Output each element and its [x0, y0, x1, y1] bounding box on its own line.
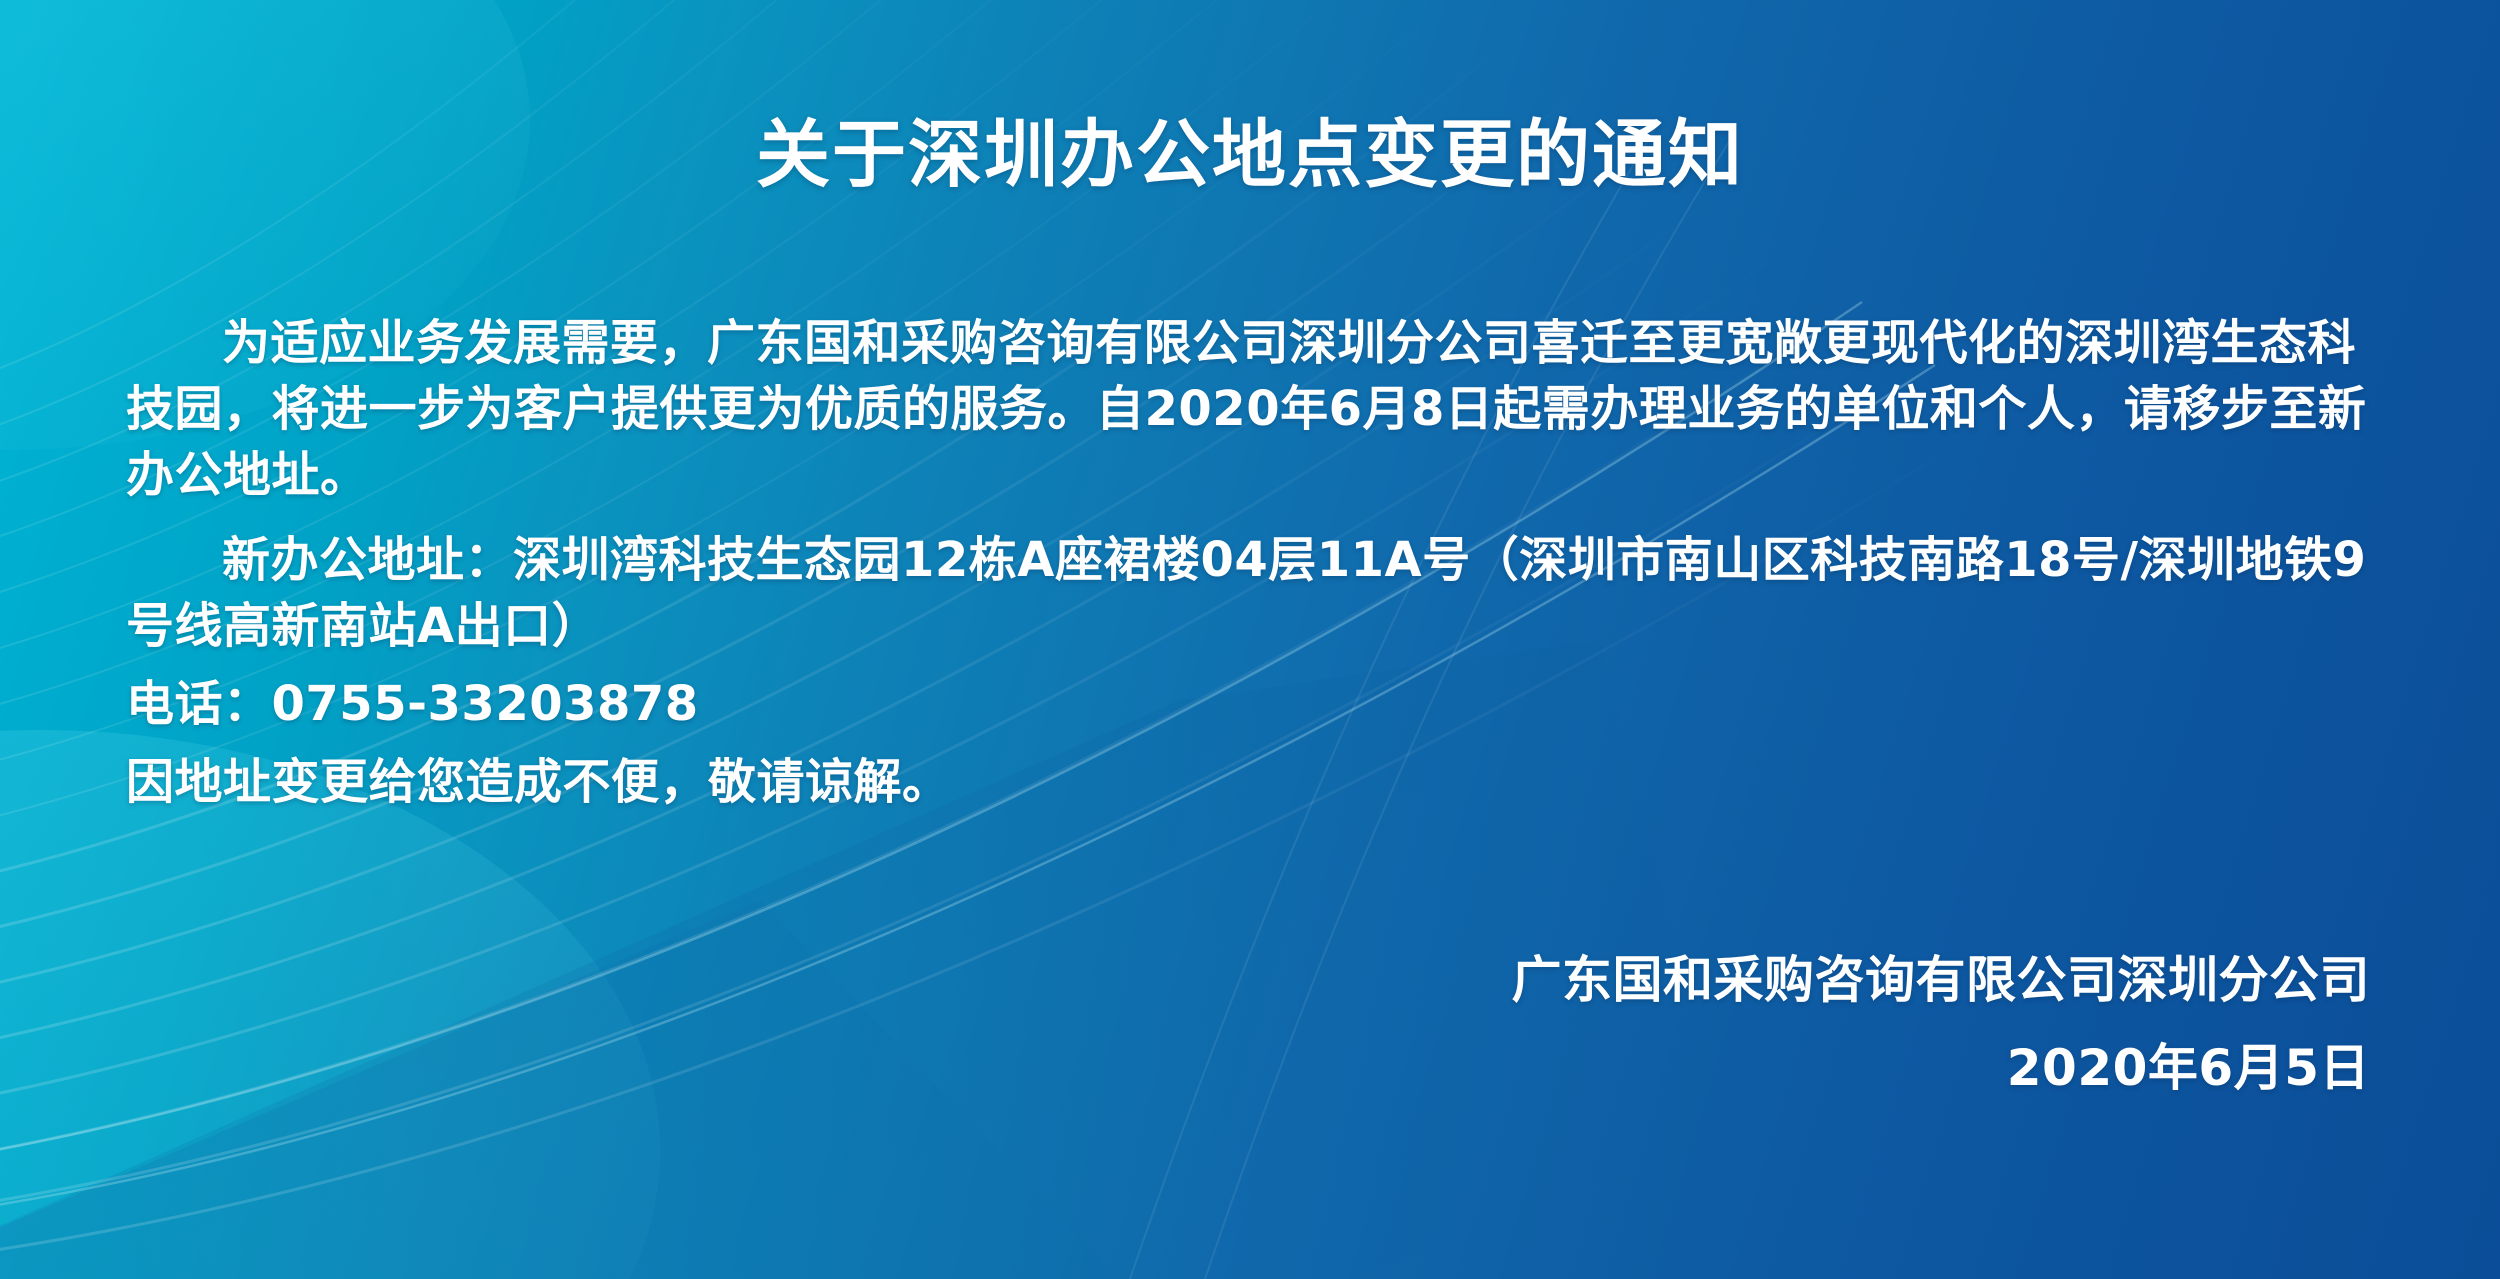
- notice-poster: 关于深圳办公地点变更的通知 为适应业务发展需要，广东国和采购咨询有限公司深圳分公…: [0, 0, 2500, 1279]
- paragraph-relocation-announcement: 为适应业务发展需要，广东国和采购咨询有限公司深圳分公司喜迁至更宽敞更现代化的深圳…: [126, 310, 2392, 509]
- signature-block: 广东国和采购咨询有限公司深圳分公司 2020年6月5日: [1512, 947, 2371, 1101]
- page-title: 关于深圳办公地点变更的通知: [0, 118, 2500, 192]
- notice-body: 为适应业务发展需要，广东国和采购咨询有限公司深圳分公司喜迁至更宽敞更现代化的深圳…: [126, 310, 2392, 816]
- paragraph-apology: 因地址变更给您造成不便，敬请谅解。: [126, 749, 2392, 815]
- signature-date: 2020年6月5日: [1512, 1035, 2371, 1101]
- notice-content: 关于深圳办公地点变更的通知 为适应业务发展需要，广东国和采购咨询有限公司深圳分公…: [0, 0, 2500, 1279]
- paragraph-phone: 电话：0755-33203878: [126, 671, 2392, 737]
- paragraph-new-address: 新办公地址：深圳湾科技生态园12栋A座裙楼04层11A号（深圳市南山区科技南路1…: [126, 527, 2392, 659]
- signature-company-name: 广东国和采购咨询有限公司深圳分公司: [1512, 947, 2371, 1013]
